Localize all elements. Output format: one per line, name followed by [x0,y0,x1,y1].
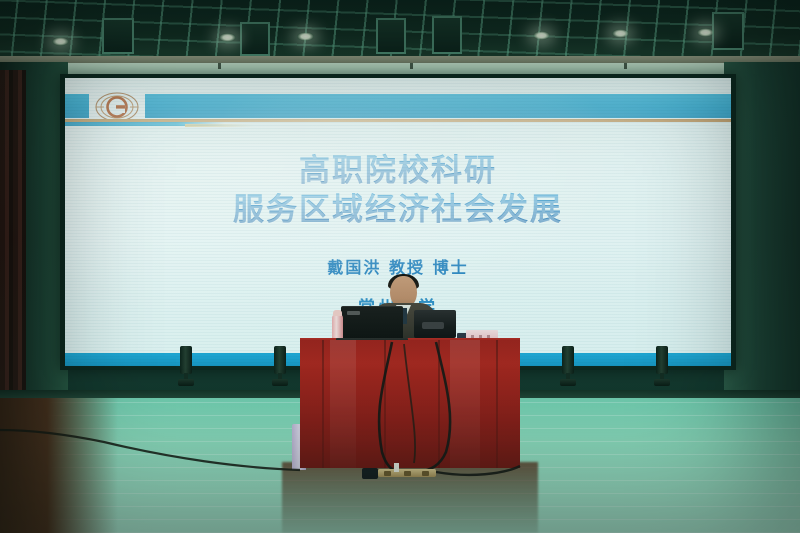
stage-light-3 [560,346,576,388]
cloth-highlight [450,340,480,468]
slide-header-band [65,94,731,118]
ceiling-lamp [52,37,69,46]
slide-title-line-1: 高职院校科研 [65,152,731,191]
stage-curtain [0,70,26,400]
cloth-fold [438,340,440,468]
slide-title-block: 高职院校科研 服务区域经济社会发展 [65,152,731,230]
stage-light-base [654,379,670,386]
power-plug [394,463,399,472]
grid-ceiling [0,0,800,62]
ceiling-panel [432,16,462,54]
soffit-hook [218,63,221,69]
laptop-brand-mark [347,311,360,315]
stage-light-body [274,346,286,374]
stage-light-base [178,379,194,386]
thermos-cap [333,310,342,316]
ceiling-panel [376,18,406,54]
slide-title-line-2: 服务区域经济社会发展 [65,191,731,230]
floor-shadow-left [0,398,118,533]
stage-light-2 [272,346,288,388]
speaker-table [300,340,520,468]
power-strip-socket [384,471,391,476]
stage-light-4 [654,346,670,388]
ceiling-lamp [219,33,236,42]
ceiling-lamp [697,28,714,37]
lecture-hall-photo: 高职院校科研 服务区域经济社会发展 戴国洪 教授 博士 常州大学 [0,0,800,533]
ceiling-panel [102,18,134,54]
cloth-fold [496,340,498,468]
power-adapter [362,468,378,479]
stage-light-body [562,346,574,374]
ceiling-lamp [533,31,550,40]
ceiling-panel [712,12,744,50]
stage-light-body [656,346,668,374]
power-strip-socket [422,471,429,476]
cloth-fold [322,340,324,468]
soffit-hook [624,63,627,69]
projector-lens [422,322,444,329]
soffit-hook [410,63,413,69]
ceiling-lamp [297,32,314,41]
stage-light-body [180,346,192,374]
slide-band-tail-gold [185,124,255,127]
thermos-cup [332,314,343,340]
power-strip-socket [404,471,411,476]
cloth-fold [384,340,386,468]
ceiling-lamp [612,29,629,38]
cloth-highlight [330,340,356,468]
stage-light-1 [178,346,194,388]
stage-light-base [560,379,576,386]
stage-light-base [272,379,288,386]
ceiling-panel [240,22,270,56]
